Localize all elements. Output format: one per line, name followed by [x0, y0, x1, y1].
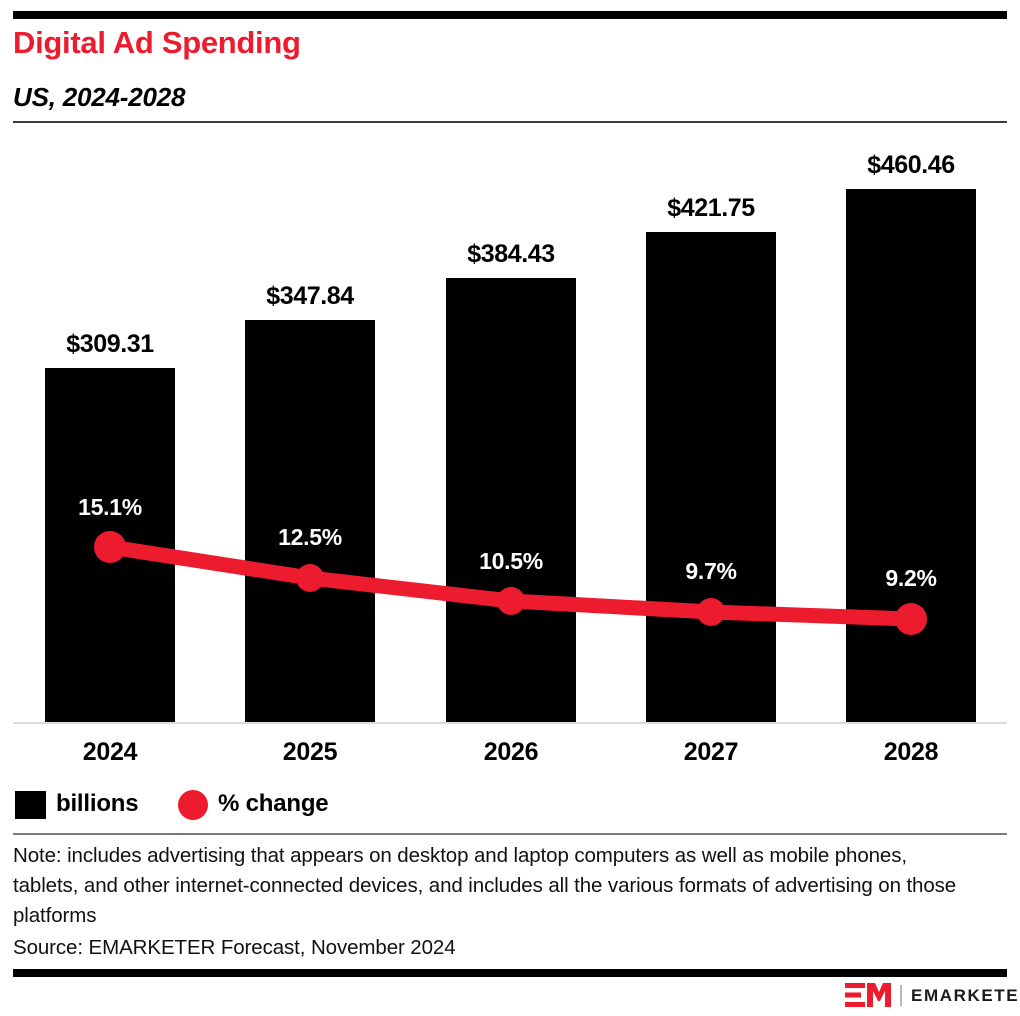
- brand-name: EMARKETER: [911, 987, 1020, 1004]
- bar-2024: [45, 368, 175, 723]
- em-logo-icon: [845, 983, 891, 1007]
- pct-label-2024: 15.1%: [25, 494, 195, 521]
- x-axis-tick-2025: 2025: [225, 738, 395, 767]
- x-axis-tick-2024: 2024: [25, 738, 195, 767]
- x-axis-tick-2027: 2027: [626, 738, 796, 767]
- footnote-source: Source: EMARKETER Forecast, November 202…: [13, 934, 456, 962]
- bar-value-label-2024: $309.31: [25, 330, 195, 359]
- x-axis-tick-2028: 2028: [826, 738, 996, 767]
- legend-percent-change-swatch-icon: [178, 790, 208, 820]
- bar-value-label-2026: $384.43: [426, 240, 596, 269]
- bar-value-label-2025: $347.84: [225, 282, 395, 311]
- bar-value-label-2027: $421.75: [626, 194, 796, 223]
- pct-label-2026: 10.5%: [426, 548, 596, 575]
- pct-label-2027: 9.7%: [626, 558, 796, 585]
- bar-value-label-2028: $460.46: [826, 151, 996, 180]
- legend-percent-change-label: % change: [218, 790, 328, 818]
- brand-divider: [900, 985, 902, 1006]
- footnote-divider: [13, 833, 1007, 835]
- brand-lockup: EMARKETER: [845, 983, 1020, 1007]
- legend-billions-swatch-icon: [15, 791, 46, 819]
- bar-2026: [446, 278, 576, 723]
- bar-2027: [646, 232, 776, 723]
- footnote-note: Note: includes advertising that appears …: [13, 841, 973, 931]
- x-axis-line: [13, 722, 1007, 724]
- pct-label-2028: 9.2%: [826, 565, 996, 592]
- x-axis-tick-2026: 2026: [426, 738, 596, 767]
- bar-2028: [846, 189, 976, 723]
- legend-billions-label: billions: [56, 790, 138, 818]
- pct-label-2025: 12.5%: [225, 524, 395, 551]
- bar-2025: [245, 320, 375, 723]
- chart-page: Digital Ad Spending US, 2024-2028 $309.3…: [0, 0, 1020, 1016]
- bottom-rule: [13, 969, 1007, 977]
